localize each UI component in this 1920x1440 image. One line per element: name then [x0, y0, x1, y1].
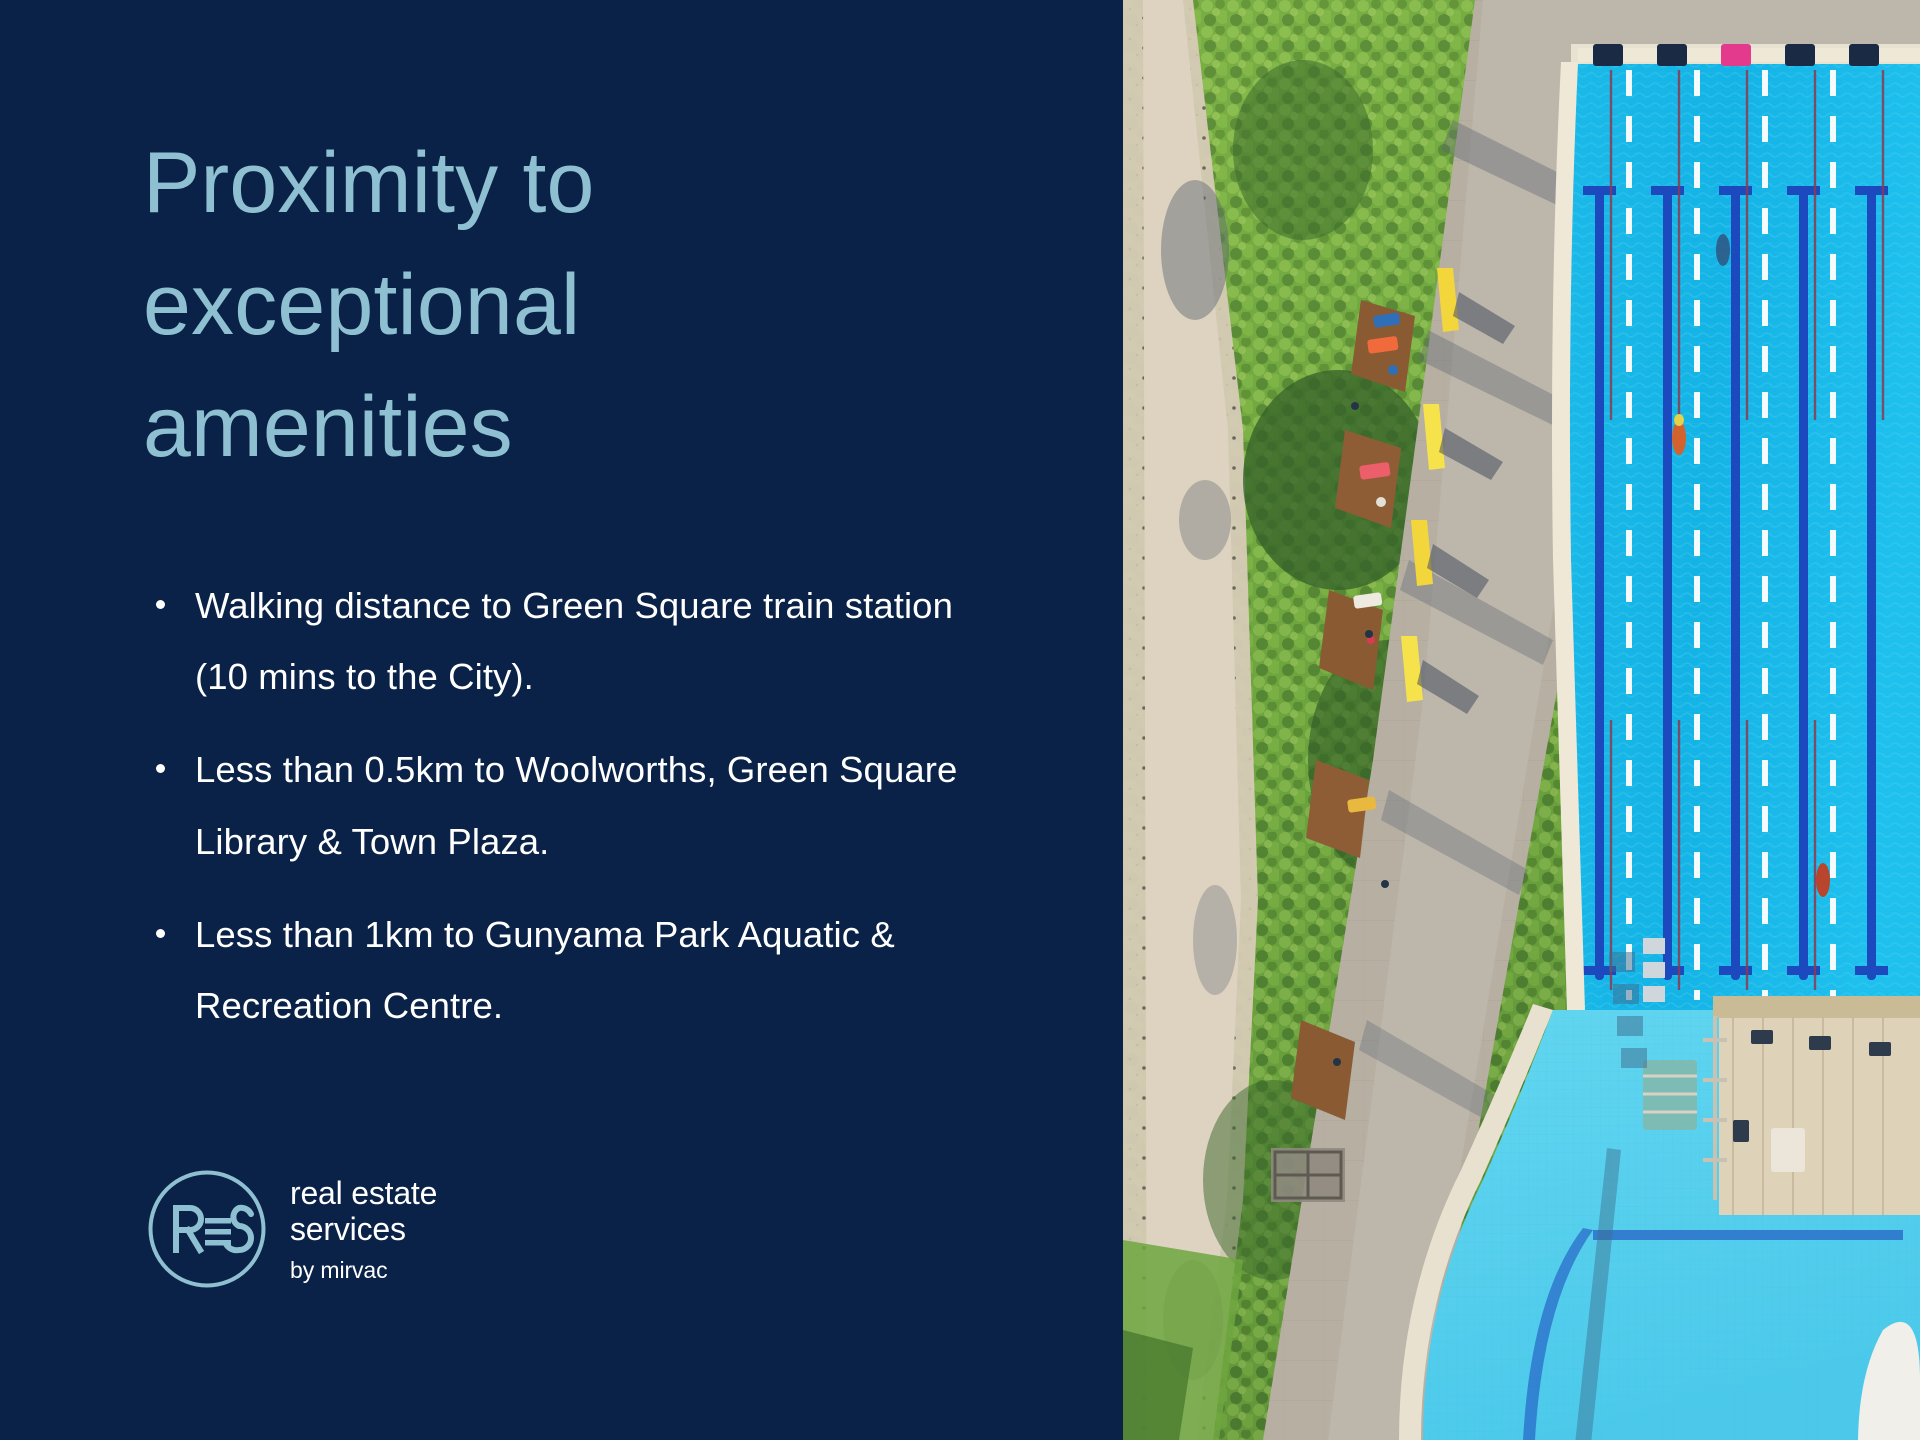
bullet-dot-icon — [156, 929, 165, 938]
content-panel: Proximity to exceptional amenities Walki… — [0, 0, 1123, 1440]
marketing-slide: Proximity to exceptional amenities Walki… — [0, 0, 1920, 1440]
bullet-dot-icon — [156, 600, 165, 609]
list-item: Less than 0.5km to Woolworths, Green Squ… — [150, 734, 980, 876]
logo-wordmark: real estate services by mirvac — [290, 1174, 437, 1284]
list-item-text: Less than 1km to Gunyama Park Aquatic & … — [195, 914, 895, 1026]
aquatic-centre-photo — [1123, 0, 1920, 1440]
aerial-pool-illustration — [1123, 0, 1920, 1440]
bullet-dot-icon — [156, 764, 165, 773]
logo-line-1: real estate — [290, 1176, 437, 1212]
res-circle-monogram-icon — [146, 1168, 268, 1290]
list-item: Walking distance to Green Square train s… — [150, 570, 980, 712]
page-title: Proximity to exceptional amenities — [143, 122, 903, 488]
amenities-bullet-list: Walking distance to Green Square train s… — [150, 570, 980, 1041]
logo-line-2: services — [290, 1212, 437, 1248]
brand-logo: real estate services by mirvac — [146, 1168, 437, 1290]
list-item-text: Walking distance to Green Square train s… — [195, 585, 953, 697]
list-item-text: Less than 0.5km to Woolworths, Green Squ… — [195, 749, 957, 861]
list-item: Less than 1km to Gunyama Park Aquatic & … — [150, 899, 980, 1041]
logo-tagline: by mirvac — [290, 1257, 437, 1285]
